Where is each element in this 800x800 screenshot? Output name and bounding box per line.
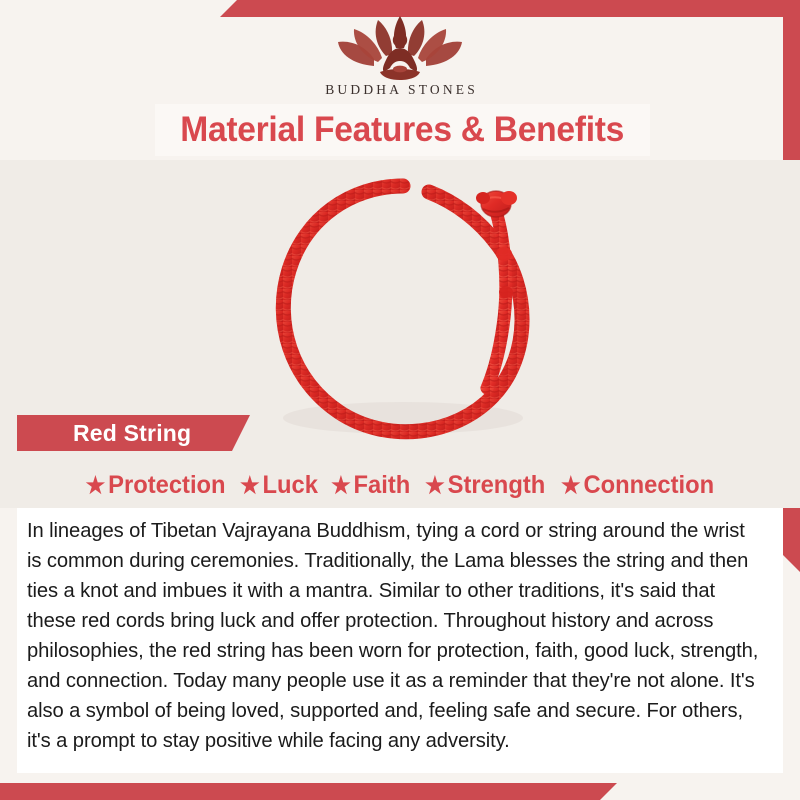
product-photo-band [0, 160, 800, 508]
brand-logo: BUDDHA STONES [0, 14, 800, 98]
star-icon: ★ [331, 474, 351, 497]
star-icon: ★ [425, 474, 445, 497]
lotus-meditation-figure-icon [334, 14, 466, 80]
red-string-bracelet-image [247, 168, 559, 458]
benefit-label: Faith [354, 471, 411, 500]
description-paragraph: In lineages of Tibetan Vajrayana Buddhis… [27, 516, 762, 756]
benefit-item-strength: ★ Strength [425, 471, 545, 500]
benefit-item-connection: ★ Connection [561, 471, 714, 500]
benefit-label: Luck [263, 471, 318, 500]
benefit-item-protection: ★ Protection [86, 471, 226, 500]
benefit-item-luck: ★ Luck [240, 471, 318, 500]
star-icon: ★ [561, 474, 581, 497]
brand-wordmark: BUDDHA STONES [0, 82, 800, 98]
frame-accent-bottom [0, 783, 617, 800]
description-block: In lineages of Tibetan Vajrayana Buddhis… [17, 508, 783, 773]
product-name-ribbon: Red String [17, 415, 250, 451]
benefits-list: ★ Protection ★ Luck ★ Faith ★ Strength ★… [0, 465, 800, 505]
benefit-item-faith: ★ Faith [331, 471, 410, 500]
star-icon: ★ [86, 474, 106, 497]
product-name-label: Red String [73, 420, 191, 447]
benefit-label: Protection [108, 471, 225, 500]
page-title: Material Features & Benefits [181, 110, 625, 150]
star-icon: ★ [240, 474, 260, 497]
braided-cord-graphic [247, 168, 559, 458]
benefit-label: Strength [447, 471, 545, 500]
title-banner: Material Features & Benefits [155, 104, 650, 156]
infographic-poster: BUDDHA STONES Material Features & Benefi… [0, 0, 800, 800]
benefit-label: Connection [583, 471, 714, 500]
